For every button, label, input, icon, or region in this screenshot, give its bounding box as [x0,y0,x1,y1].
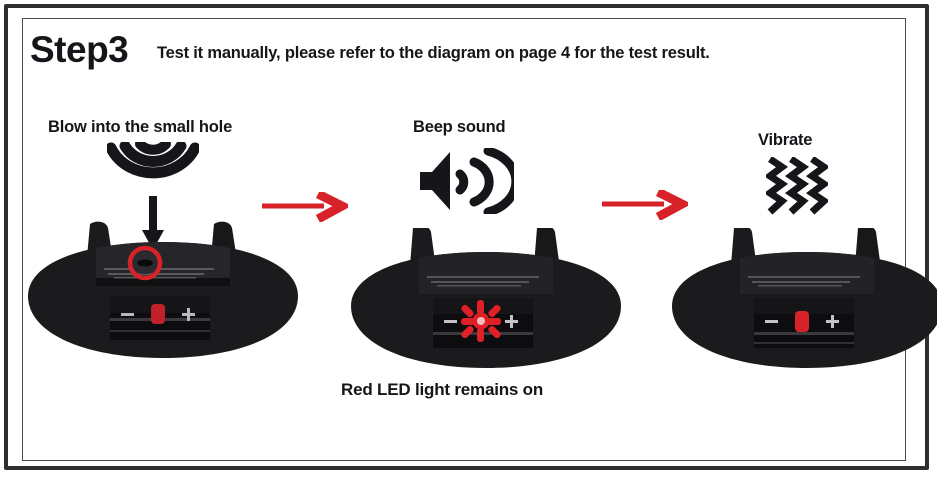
step-title: Step3 [30,29,128,71]
vibration-zigzag-icon [766,157,828,215]
step-instruction: Test it manually, please refer to the di… [157,44,710,63]
device-illustration-blow [18,218,308,368]
red-right-arrow-icon-2 [602,190,688,220]
panel-caption-beep: Beep sound [413,118,505,137]
device-illustration-beep [341,228,631,378]
panel-caption-blow: Blow into the small hole [48,118,232,137]
panel-caption-vibrate: Vibrate [758,131,812,150]
speaker-sound-icon [418,148,514,214]
red-right-arrow-icon [262,192,348,222]
footnote-red-led: Red LED light remains on [341,380,543,400]
diagram-page: Step3 Test it manually, please refer to … [0,0,937,477]
air-waves-icon [107,142,199,194]
device-illustration-vibrate [662,228,937,378]
